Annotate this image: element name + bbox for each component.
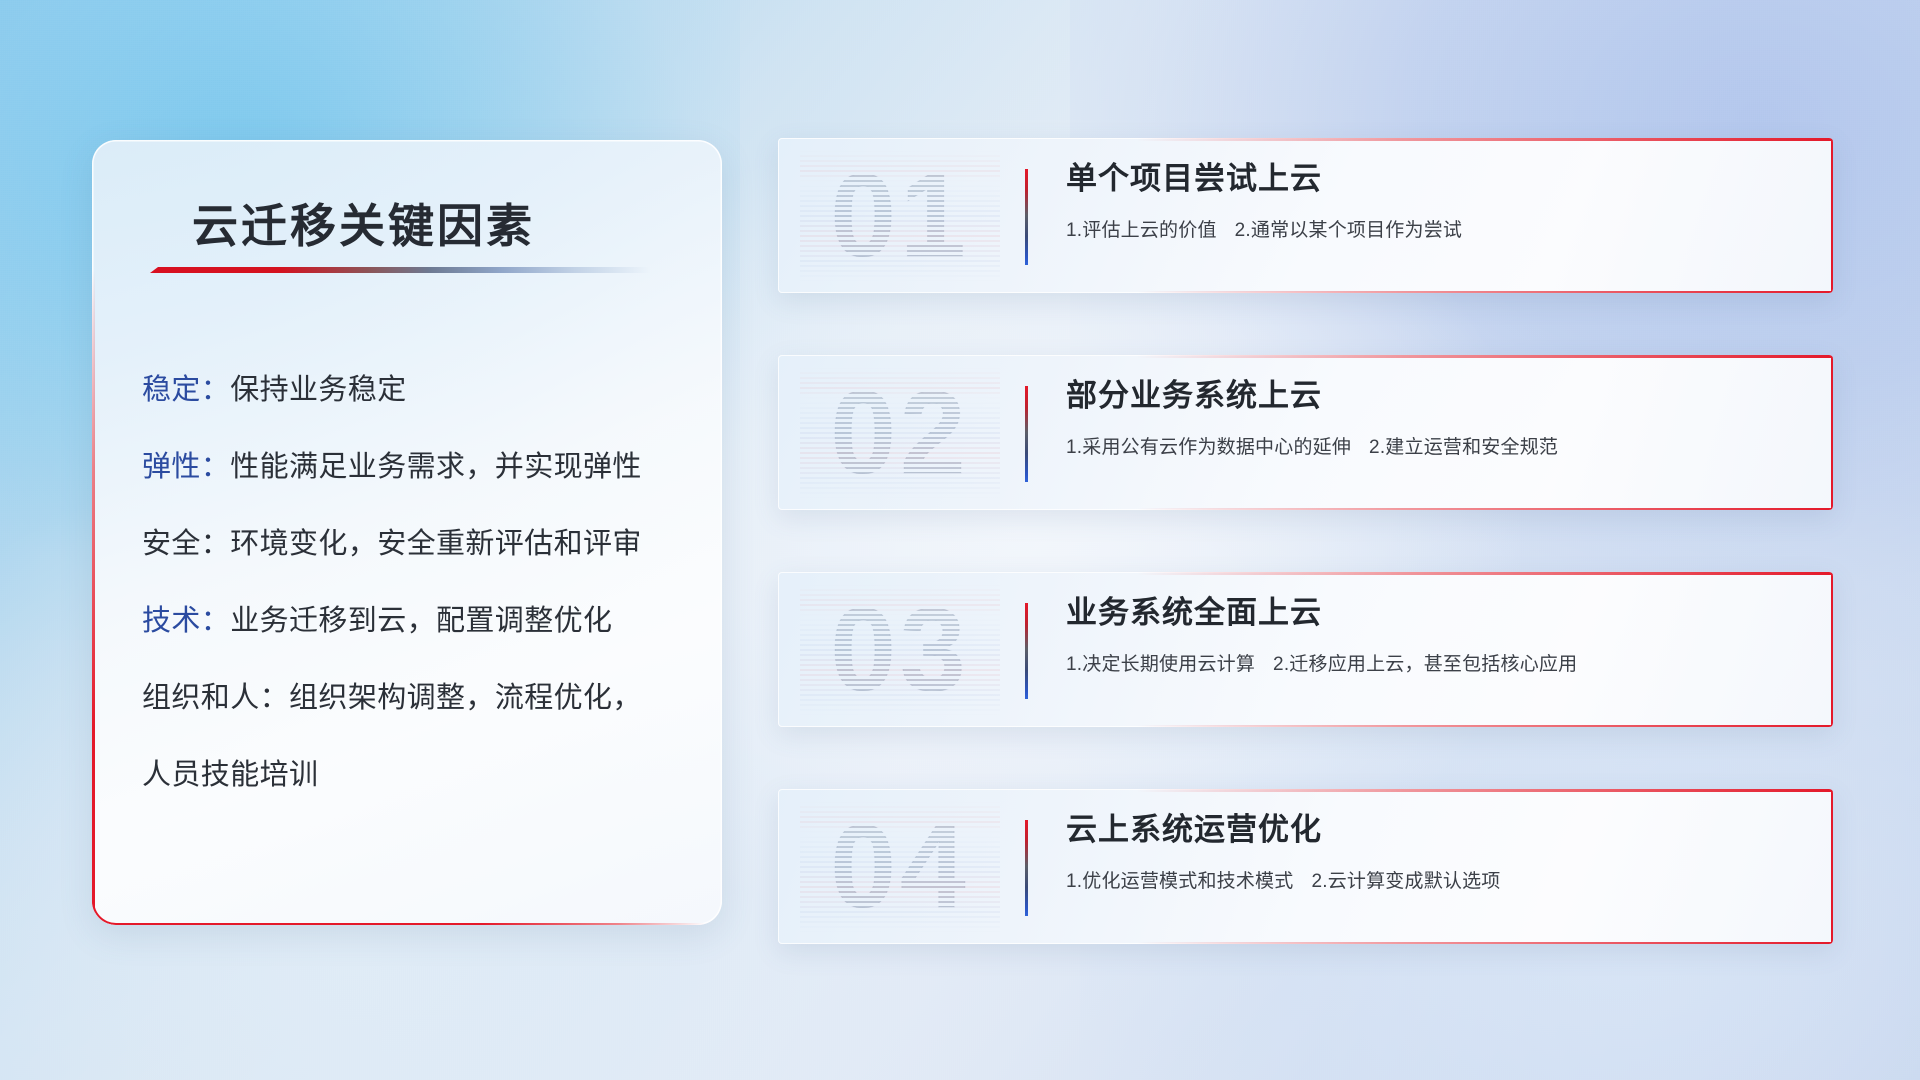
step-card-01[interactable]: 01 单个项目尝试上云 1.评估上云的价值2.通常以某个项目作为尝试: [778, 138, 1833, 293]
step-content: 业务系统全面上云 1.决定长期使用云计算2.迁移应用上云，甚至包括核心应用: [1066, 594, 1809, 676]
factor-label: 组织和人：: [142, 682, 289, 714]
factor-item-security: 安全：环境变化，安全重新评估和评审: [142, 530, 676, 559]
card-accent-right-edge: [1831, 355, 1834, 510]
card-accent-top-edge: [1137, 789, 1833, 792]
step-card-04[interactable]: 04 云上系统运营优化 1.优化运营模式和技术模式2.云计算变成默认选项: [778, 789, 1833, 944]
step-number-watermark: 03: [800, 584, 1000, 716]
step-divider-bar: [1025, 603, 1028, 699]
step-title: 部分业务系统上云: [1066, 377, 1809, 416]
step-number-watermark: 04: [800, 801, 1000, 933]
factor-item-organization-cont: 人员技能培训: [142, 761, 676, 790]
panel-accent-bottom-edge: [116, 923, 706, 926]
step-number-watermark-tint: [800, 150, 1000, 282]
step-desc-item-1: 1.优化运营模式和技术模式: [1066, 871, 1293, 892]
factor-item-stability: 稳定：保持业务稳定: [142, 376, 676, 405]
step-desc-item-1: 1.评估上云的价值: [1066, 220, 1217, 241]
factor-item-organization: 组织和人：组织架构调整，流程优化，: [142, 684, 676, 713]
step-card-03[interactable]: 03 业务系统全面上云 1.决定长期使用云计算2.迁移应用上云，甚至包括核心应用: [778, 572, 1833, 727]
step-title: 云上系统运营优化: [1066, 811, 1809, 850]
factor-item-technology: 技术：业务迁移到云，配置调整优化: [142, 607, 676, 636]
step-divider-bar: [1025, 820, 1028, 916]
card-accent-right-edge: [1831, 789, 1834, 944]
factor-text: 组织架构调整，流程优化，: [289, 682, 642, 714]
factor-label: 稳定：: [142, 374, 230, 406]
step-title: 单个项目尝试上云: [1066, 160, 1809, 199]
factor-text: 业务迁移到云，配置调整优化: [230, 605, 612, 637]
step-number-watermark: 01: [800, 150, 1000, 282]
step-desc-item-2: 2.迁移应用上云，甚至包括核心应用: [1273, 654, 1577, 675]
panel-title: 云迁移关键因素: [192, 190, 535, 256]
card-accent-top-edge: [1137, 138, 1833, 141]
factor-label: 技术：: [142, 605, 230, 637]
step-number-watermark: 02: [800, 367, 1000, 499]
card-accent-right-edge: [1831, 572, 1834, 727]
factor-text: 人员技能培训: [142, 759, 318, 791]
step-number-watermark-tint: [800, 584, 1000, 716]
step-desc-item-1: 1.采用公有云作为数据中心的延伸: [1066, 437, 1351, 458]
step-title: 业务系统全面上云: [1066, 594, 1809, 633]
step-desc-item-2: 2.建立运营和安全规范: [1369, 437, 1558, 458]
factor-text: 保持业务稳定: [230, 374, 406, 406]
title-underline-rule: [150, 267, 650, 273]
step-description: 1.优化运营模式和技术模式2.云计算变成默认选项: [1066, 866, 1809, 893]
step-number-watermark-tint: [800, 801, 1000, 933]
card-accent-bottom-edge: [1137, 725, 1833, 728]
step-desc-item-2: 2.云计算变成默认选项: [1311, 871, 1500, 892]
step-divider-bar: [1025, 386, 1028, 482]
card-accent-bottom-edge: [1137, 942, 1833, 945]
card-accent-bottom-edge: [1137, 291, 1833, 294]
factor-text: 环境变化，安全重新评估和评审: [230, 528, 642, 560]
key-factors-list: 稳定：保持业务稳定 弹性：性能满足业务需求，并实现弹性 安全：环境变化，安全重新…: [92, 376, 722, 790]
card-accent-right-edge: [1831, 138, 1834, 293]
step-description: 1.采用公有云作为数据中心的延伸2.建立运营和安全规范: [1066, 432, 1809, 459]
step-content: 云上系统运营优化 1.优化运营模式和技术模式2.云计算变成默认选项: [1066, 811, 1809, 893]
step-card-02[interactable]: 02 部分业务系统上云 1.采用公有云作为数据中心的延伸2.建立运营和安全规范: [778, 355, 1833, 510]
factor-text: 性能满足业务需求，并实现弹性: [230, 451, 642, 483]
card-accent-top-edge: [1137, 572, 1833, 575]
slide-canvas: 云迁移关键因素 稳定：保持业务稳定 弹性：性能满足业务需求，并实现弹性 安全：环…: [0, 0, 1920, 1080]
card-accent-top-edge: [1137, 355, 1833, 358]
step-desc-item-1: 1.决定长期使用云计算: [1066, 654, 1255, 675]
migration-steps-column: 01 单个项目尝试上云 1.评估上云的价值2.通常以某个项目作为尝试 02 部分…: [778, 138, 1833, 944]
step-description: 1.评估上云的价值2.通常以某个项目作为尝试: [1066, 215, 1809, 242]
step-divider-bar: [1025, 169, 1028, 265]
factor-label: 弹性：: [142, 451, 230, 483]
factor-label: 安全：: [142, 528, 230, 560]
step-content: 部分业务系统上云 1.采用公有云作为数据中心的延伸2.建立运营和安全规范: [1066, 377, 1809, 459]
step-description: 1.决定长期使用云计算2.迁移应用上云，甚至包括核心应用: [1066, 649, 1809, 676]
card-accent-bottom-edge: [1137, 508, 1833, 511]
key-factors-panel: 云迁移关键因素 稳定：保持业务稳定 弹性：性能满足业务需求，并实现弹性 安全：环…: [92, 140, 722, 925]
step-content: 单个项目尝试上云 1.评估上云的价值2.通常以某个项目作为尝试: [1066, 160, 1809, 242]
factor-item-elasticity: 弹性：性能满足业务需求，并实现弹性: [142, 453, 676, 482]
step-number-watermark-tint: [800, 367, 1000, 499]
step-desc-item-2: 2.通常以某个项目作为尝试: [1235, 220, 1462, 241]
